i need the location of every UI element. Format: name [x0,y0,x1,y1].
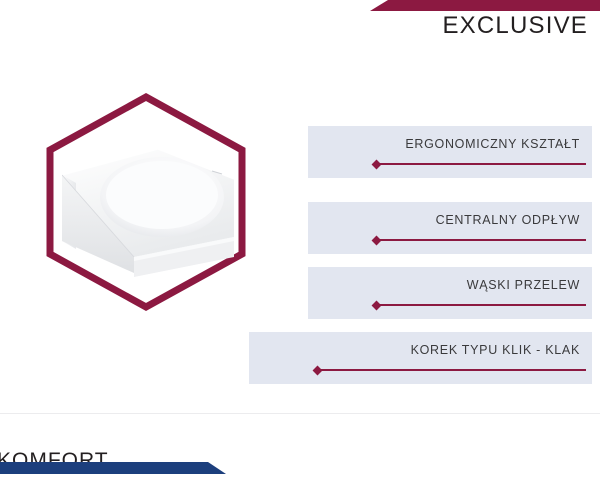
bottom-accent-banner [0,462,226,474]
product-hexagon-badge [44,93,248,311]
feature-label: WĄSKI PRZELEW [467,275,580,295]
feature-underline [376,239,586,241]
feature-underline [376,304,586,306]
slide-canvas: EXCLUSIVE [0,0,600,480]
feature-underline [317,369,586,371]
top-accent-banner [370,0,600,11]
bathtub-product-image [62,145,234,277]
feature-callout-3[interactable]: WĄSKI PRZELEW [308,267,592,319]
feature-callout-1[interactable]: ERGONOMICZNY KSZTAŁT [308,126,592,178]
feature-callout-4[interactable]: KOREK TYPU KLIK - KLAK [249,332,592,384]
feature-label: ERGONOMICZNY KSZTAŁT [405,134,580,154]
feature-callout-2[interactable]: CENTRALNY ODPŁYW [308,202,592,254]
page-title: EXCLUSIVE [0,11,588,41]
feature-label: KOREK TYPU KLIK - KLAK [411,340,580,360]
feature-label: CENTRALNY ODPŁYW [436,210,580,230]
footer-divider [0,413,600,414]
feature-underline [376,163,586,165]
